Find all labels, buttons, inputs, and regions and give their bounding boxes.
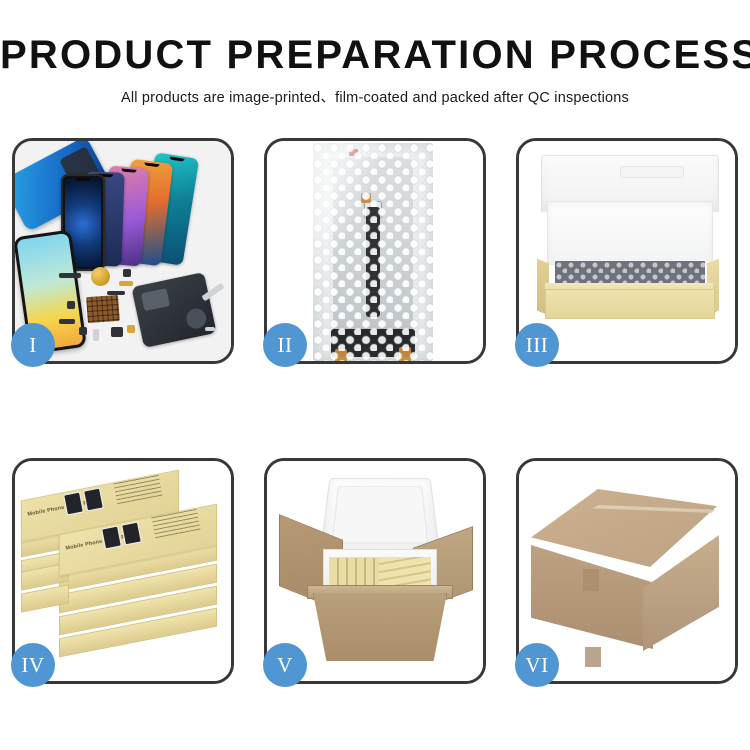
chip-grid-icon — [86, 295, 120, 323]
step-badge-2: II — [263, 323, 307, 367]
carton-body — [313, 593, 447, 661]
part-sim-tray-icon — [93, 329, 99, 341]
step-badge-1: I — [11, 323, 55, 367]
product-preparation-infographic: PRODUCT PREPARATION PROCESS All products… — [0, 0, 750, 750]
bubble-texture — [313, 143, 433, 361]
carton-tab-upper — [583, 569, 599, 591]
step-panel-6: VI — [516, 458, 738, 684]
carton-tab-lower — [585, 647, 601, 667]
phone-backplate-icon — [131, 272, 216, 348]
part-small-icon — [67, 301, 75, 309]
header: PRODUCT PREPARATION PROCESS All products… — [0, 0, 750, 107]
part-cable-icon — [59, 319, 75, 324]
part-gold-flex-icon — [119, 281, 133, 286]
part-flex-icon — [107, 291, 125, 295]
step-panel-4: Mobile Phone Spare Parts Mobile Phone Sp… — [12, 458, 234, 684]
part-chip-icon — [123, 269, 131, 277]
box-lid-tab — [620, 166, 684, 178]
step-panel-2: II — [264, 138, 486, 364]
part-camera-icon — [111, 327, 123, 337]
step-badge-6: VI — [515, 643, 559, 687]
gold-coil-icon — [91, 267, 110, 286]
page-title: PRODUCT PREPARATION PROCESS — [0, 34, 750, 76]
part-gold-chip-icon — [127, 325, 135, 333]
part-strip-icon — [59, 273, 81, 278]
step-badge-5: V — [263, 643, 307, 687]
foam-sheet — [547, 201, 713, 265]
part-button-icon — [79, 327, 87, 335]
screw-icon — [205, 327, 215, 331]
bubble-bag — [313, 143, 433, 361]
step-badge-3: III — [515, 323, 559, 367]
step-badge-4: IV — [11, 643, 55, 687]
step-panel-5: V — [264, 458, 486, 684]
steps-grid: I — [12, 138, 738, 684]
step-panel-3: III — [516, 138, 738, 364]
box-front-panel — [545, 289, 715, 319]
phone-fan-group — [51, 155, 226, 270]
page-subtitle: All products are image-printed、film-coat… — [0, 86, 750, 107]
step-panel-1: I — [12, 138, 234, 364]
